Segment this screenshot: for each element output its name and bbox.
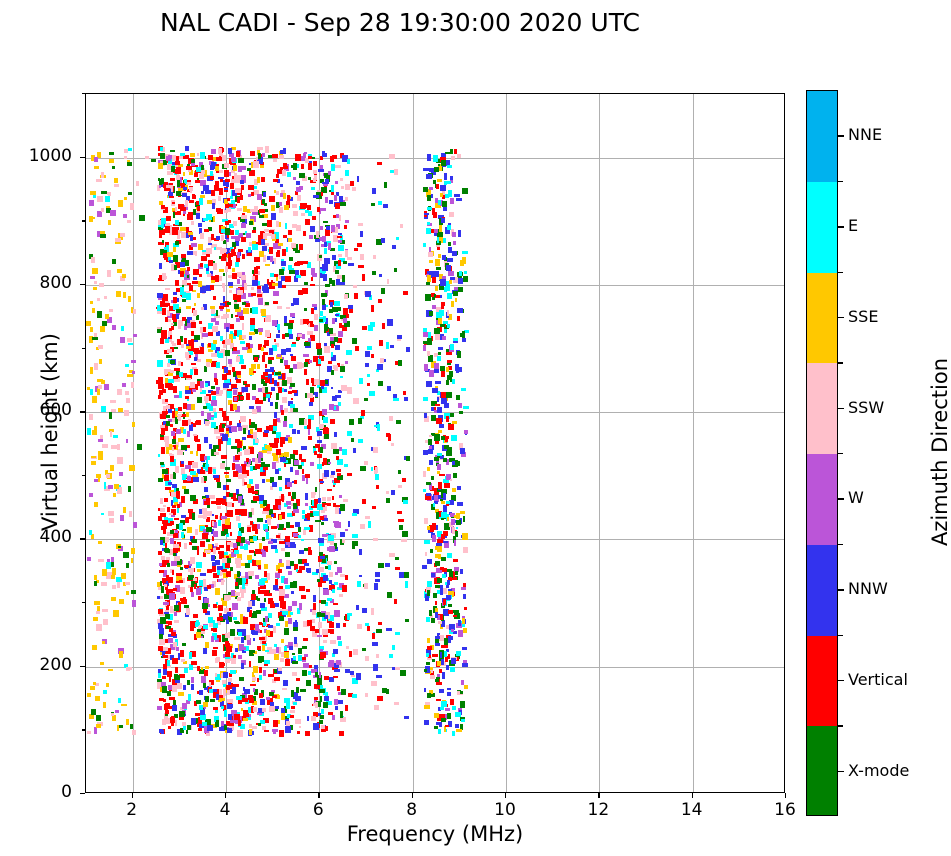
scatter-point: [438, 347, 443, 350]
scatter-point: [432, 535, 435, 542]
scatter-point: [279, 269, 283, 275]
scatter-point: [304, 419, 307, 426]
scatter-point: [195, 713, 200, 716]
scatter-point: [191, 221, 194, 224]
scatter-point: [320, 380, 325, 386]
scatter-point: [204, 437, 209, 443]
scatter-point: [276, 535, 280, 538]
scatter-point: [221, 455, 227, 459]
scatter-point: [285, 223, 288, 229]
scatter-point: [436, 184, 439, 189]
scatter-point: [86, 321, 90, 327]
scatter-point: [222, 698, 226, 701]
scatter-point: [298, 648, 302, 654]
scatter-point: [226, 309, 230, 312]
scatter-point: [97, 196, 102, 202]
scatter-point: [163, 602, 169, 605]
scatter-point: [456, 198, 462, 201]
scatter-point: [183, 597, 186, 603]
scatter-point: [253, 707, 258, 712]
scatter-point: [189, 355, 192, 358]
scatter-point: [171, 492, 176, 497]
scatter-point: [167, 252, 173, 257]
scatter-point: [220, 463, 225, 469]
scatter-point: [335, 181, 338, 184]
scatter-point: [328, 565, 331, 569]
scatter-point: [339, 196, 343, 202]
scatter-point: [98, 541, 102, 544]
scatter-point: [169, 513, 173, 516]
scatter-point: [425, 552, 428, 557]
scatter-point: [226, 208, 231, 213]
scatter-point: [319, 319, 322, 323]
scatter-point: [171, 431, 174, 436]
scatter-point: [172, 570, 175, 575]
scatter-point: [291, 344, 296, 347]
scatter-point: [114, 184, 118, 187]
scatter-point: [347, 473, 352, 476]
scatter-point: [322, 409, 328, 414]
scatter-point: [210, 176, 214, 180]
scatter-point: [304, 308, 308, 312]
scatter-point: [161, 205, 165, 209]
scatter-point: [169, 196, 174, 199]
scatter-point: [248, 247, 252, 252]
scatter-point: [225, 228, 230, 235]
scatter-point: [447, 360, 453, 363]
scatter-point: [190, 471, 196, 475]
scatter-point: [213, 216, 216, 222]
scatter-point: [448, 271, 454, 276]
scatter-point: [311, 277, 314, 281]
scatter-point: [372, 633, 375, 639]
scatter-point: [434, 229, 438, 233]
scatter-point: [233, 471, 238, 477]
scatter-point: [160, 153, 166, 159]
scatter-point: [216, 157, 221, 161]
scatter-point: [339, 323, 342, 328]
scatter-point: [106, 683, 110, 688]
scatter-point: [406, 456, 410, 461]
scatter-point: [235, 439, 240, 443]
scatter-point: [434, 294, 437, 297]
scatter-point: [127, 162, 132, 165]
scatter-point: [273, 585, 279, 590]
scatter-point: [211, 234, 214, 239]
scatter-point: [219, 188, 223, 195]
scatter-point: [291, 690, 294, 697]
scatter-point: [247, 435, 252, 439]
scatter-point: [254, 357, 258, 363]
scatter-point: [313, 161, 317, 166]
scatter-point: [296, 187, 301, 192]
scatter-point: [137, 444, 143, 450]
scatter-point: [348, 263, 354, 266]
scatter-point: [322, 151, 326, 157]
scatter-point: [443, 207, 447, 211]
scatter-point: [211, 280, 215, 283]
scatter-point: [216, 498, 221, 505]
scatter-point: [329, 309, 334, 313]
scatter-point: [436, 722, 442, 725]
scatter-point: [159, 698, 164, 701]
scatter-point: [223, 383, 229, 389]
scatter-point: [186, 412, 189, 418]
scatter-point: [217, 617, 223, 621]
scatter-point: [231, 236, 234, 239]
scatter-point: [443, 531, 448, 536]
scatter-point: [371, 681, 376, 687]
scatter-point: [325, 197, 328, 203]
scatter-point: [102, 321, 107, 325]
scatter-point: [367, 346, 372, 349]
scatter-point: [279, 589, 285, 595]
scatter-point: [246, 458, 249, 462]
scatter-point: [189, 542, 192, 545]
scatter-point: [442, 574, 446, 578]
scatter-point: [315, 487, 318, 491]
y-minor-tick-mark: [82, 348, 86, 349]
scatter-point: [211, 501, 215, 504]
scatter-point: [271, 213, 276, 220]
scatter-point: [441, 436, 445, 441]
scatter-point: [218, 148, 222, 153]
scatter-point: [104, 482, 107, 489]
scatter-point: [424, 705, 429, 709]
scatter-point: [240, 341, 245, 345]
scatter-point: [223, 672, 227, 677]
scatter-point: [193, 269, 199, 275]
scatter-points-layer: [86, 94, 784, 792]
scatter-point: [182, 317, 186, 321]
scatter-point: [92, 430, 97, 435]
scatter-point: [313, 703, 318, 706]
scatter-point: [129, 511, 132, 517]
scatter-point: [166, 421, 170, 426]
scatter-point: [120, 337, 125, 343]
scatter-point: [182, 193, 187, 197]
scatter-point: [158, 669, 161, 673]
scatter-point: [341, 385, 347, 391]
scatter-point: [320, 208, 325, 211]
scatter-point: [438, 482, 442, 489]
scatter-point: [237, 279, 240, 283]
scatter-point: [182, 703, 187, 709]
scatter-point: [184, 668, 187, 673]
scatter-point: [315, 239, 321, 242]
scatter-point: [156, 380, 160, 384]
scatter-point: [308, 156, 312, 159]
scatter-point: [324, 346, 329, 353]
scatter-point: [172, 484, 177, 488]
scatter-point: [232, 603, 237, 610]
scatter-point: [274, 339, 277, 342]
scatter-point: [444, 445, 449, 449]
scatter-point: [176, 573, 182, 576]
scatter-point: [157, 327, 161, 330]
y-minor-tick-mark: [82, 220, 86, 221]
scatter-point: [170, 150, 175, 153]
scatter-point: [298, 465, 302, 469]
scatter-point: [231, 426, 237, 432]
scatter-point: [392, 667, 395, 670]
scatter-point: [180, 183, 186, 187]
scatter-point: [334, 699, 338, 706]
scatter-point: [299, 454, 302, 460]
scatter-point: [237, 375, 241, 378]
scatter-point: [464, 607, 467, 610]
scatter-point: [359, 549, 362, 555]
scatter-point: [175, 169, 181, 174]
scatter-point: [169, 677, 172, 682]
scatter-point: [264, 730, 269, 733]
scatter-point: [345, 705, 348, 711]
scatter-point: [238, 720, 241, 726]
scatter-point: [422, 565, 427, 569]
scatter-point: [377, 162, 382, 165]
scatter-point: [225, 475, 229, 478]
y-tick-mark: [80, 411, 85, 412]
scatter-point: [284, 578, 288, 584]
scatter-point: [346, 646, 349, 649]
scatter-point: [289, 334, 293, 339]
scatter-point: [213, 623, 218, 628]
scatter-point: [453, 338, 458, 341]
scatter-point: [270, 702, 274, 705]
scatter-point: [447, 258, 453, 262]
scatter-point: [429, 260, 433, 263]
scatter-point: [437, 407, 442, 412]
scatter-point: [188, 419, 191, 425]
colorbar-boundary-tick: [838, 635, 843, 636]
scatter-point: [404, 716, 410, 719]
scatter-point: [172, 155, 176, 162]
scatter-point: [206, 362, 210, 367]
scatter-point: [200, 714, 206, 720]
scatter-point: [347, 431, 352, 436]
scatter-point: [451, 156, 455, 160]
scatter-point: [285, 726, 291, 733]
scatter-point: [133, 522, 137, 528]
scatter-point: [225, 221, 229, 225]
scatter-point: [264, 564, 268, 568]
scatter-point: [292, 661, 298, 664]
scatter-point: [258, 298, 262, 305]
scatter-point: [314, 325, 319, 331]
colorbar-segment-sse: [807, 273, 837, 364]
scatter-point: [197, 397, 202, 403]
scatter-point: [446, 265, 451, 271]
scatter-point: [94, 601, 100, 605]
scatter-point: [340, 376, 343, 379]
scatter-point: [293, 177, 296, 181]
scatter-point: [446, 665, 449, 670]
colorbar-boundary-tick: [838, 725, 843, 726]
scatter-point: [173, 642, 177, 647]
scatter-point: [106, 474, 109, 478]
scatter-point: [203, 185, 209, 191]
colorbar-segment-vertical: [807, 636, 837, 727]
scatter-point: [332, 496, 335, 500]
scatter-point: [262, 479, 266, 483]
scatter-point: [225, 266, 228, 272]
scatter-point: [337, 473, 341, 476]
scatter-point: [260, 585, 266, 590]
scatter-point: [427, 195, 432, 201]
scatter-point: [294, 480, 297, 484]
scatter-point: [445, 708, 450, 711]
y-tick-mark: [80, 157, 85, 158]
scatter-point: [251, 287, 254, 290]
scatter-point: [232, 273, 237, 279]
scatter-point: [264, 229, 268, 232]
scatter-point: [362, 499, 366, 504]
scatter-point: [128, 296, 131, 302]
scatter-point: [301, 363, 304, 368]
scatter-point: [253, 638, 256, 641]
scatter-point: [194, 303, 197, 306]
scatter-point: [184, 338, 187, 345]
scatter-point: [101, 208, 104, 212]
scatter-point: [215, 275, 219, 282]
plot-area: [85, 93, 785, 793]
scatter-point: [180, 207, 186, 211]
scatter-point: [395, 667, 400, 670]
scatter-point: [352, 187, 356, 191]
scatter-point: [368, 325, 372, 330]
scatter-point: [296, 569, 299, 572]
scatter-point: [426, 662, 430, 666]
scatter-point: [286, 348, 291, 352]
scatter-point: [92, 645, 97, 650]
scatter-point: [364, 583, 368, 589]
scatter-point: [271, 234, 275, 239]
scatter-point: [238, 496, 241, 503]
scatter-point: [280, 457, 285, 462]
scatter-point: [98, 439, 102, 442]
scatter-point: [290, 454, 295, 459]
scatter-point: [439, 474, 445, 477]
scatter-point: [341, 689, 346, 695]
scatter-point: [334, 669, 340, 673]
scatter-point: [241, 365, 245, 369]
scatter-point: [283, 148, 286, 151]
scatter-point: [460, 691, 463, 694]
scatter-point: [216, 716, 219, 719]
scatter-point: [257, 289, 262, 293]
colorbar-axis-label: Azimuth Direction: [928, 302, 951, 602]
scatter-point: [461, 388, 466, 391]
scatter-point: [280, 184, 283, 187]
scatter-point: [177, 683, 182, 689]
scatter-point: [297, 195, 301, 201]
scatter-point: [226, 620, 229, 624]
scatter-point: [195, 529, 198, 536]
scatter-point: [211, 422, 217, 429]
x-tick-mark: [692, 793, 693, 798]
scatter-point: [175, 720, 178, 727]
scatter-point: [282, 497, 285, 502]
scatter-point: [234, 592, 239, 596]
colorbar-boundary-tick: [838, 453, 843, 454]
scatter-point: [389, 154, 395, 159]
scatter-point: [263, 432, 268, 436]
x-tick-label: 6: [288, 800, 348, 820]
scatter-point: [205, 190, 211, 194]
scatter-point: [463, 547, 468, 553]
scatter-point: [196, 451, 199, 456]
scatter-point: [210, 699, 214, 702]
scatter-point: [448, 247, 451, 254]
scatter-point: [211, 628, 215, 631]
scatter-point: [313, 511, 318, 517]
scatter-point: [291, 706, 296, 709]
scatter-point: [190, 451, 193, 454]
scatter-point: [113, 435, 118, 438]
scatter-point: [351, 438, 354, 443]
scatter-point: [328, 243, 331, 249]
scatter-point: [170, 521, 174, 525]
scatter-point: [297, 731, 300, 734]
scatter-point: [371, 608, 374, 614]
scatter-point: [230, 629, 235, 636]
scatter-point: [101, 172, 104, 178]
scatter-point: [189, 664, 193, 670]
scatter-point: [181, 515, 186, 518]
scatter-point: [219, 170, 223, 173]
scatter-point: [305, 503, 308, 506]
scatter-point: [429, 311, 433, 316]
scatter-point: [355, 346, 359, 351]
scatter-point: [275, 499, 281, 504]
scatter-point: [241, 537, 245, 543]
scatter-point: [219, 306, 224, 309]
scatter-point: [165, 710, 169, 714]
colorbar: [806, 90, 838, 816]
scatter-point: [214, 412, 217, 419]
scatter-point: [242, 583, 245, 589]
scatter-point: [96, 179, 102, 182]
scatter-point: [241, 593, 245, 598]
scatter-point: [252, 396, 256, 400]
scatter-point: [222, 524, 225, 527]
scatter-point: [193, 277, 197, 280]
scatter-point: [174, 675, 179, 679]
scatter-point: [308, 429, 311, 435]
scatter-point: [211, 190, 214, 196]
scatter-point: [308, 163, 312, 170]
scatter-point: [200, 286, 205, 293]
scatter-point: [240, 396, 244, 399]
scatter-point: [327, 489, 332, 492]
scatter-point: [453, 241, 457, 245]
scatter-point: [250, 684, 256, 687]
scatter-point: [180, 271, 184, 277]
scatter-point: [272, 154, 278, 158]
scatter-point: [252, 726, 257, 729]
scatter-point: [365, 623, 369, 626]
scatter-point: [335, 706, 338, 710]
scatter-point: [456, 527, 459, 530]
scatter-point: [426, 482, 431, 485]
scatter-point: [89, 216, 93, 222]
colorbar-label-sse: SSE: [848, 307, 878, 326]
scatter-point: [103, 619, 107, 625]
scatter-point: [433, 271, 439, 277]
scatter-point: [431, 476, 434, 480]
scatter-point: [249, 724, 252, 728]
scatter-point: [161, 428, 165, 435]
